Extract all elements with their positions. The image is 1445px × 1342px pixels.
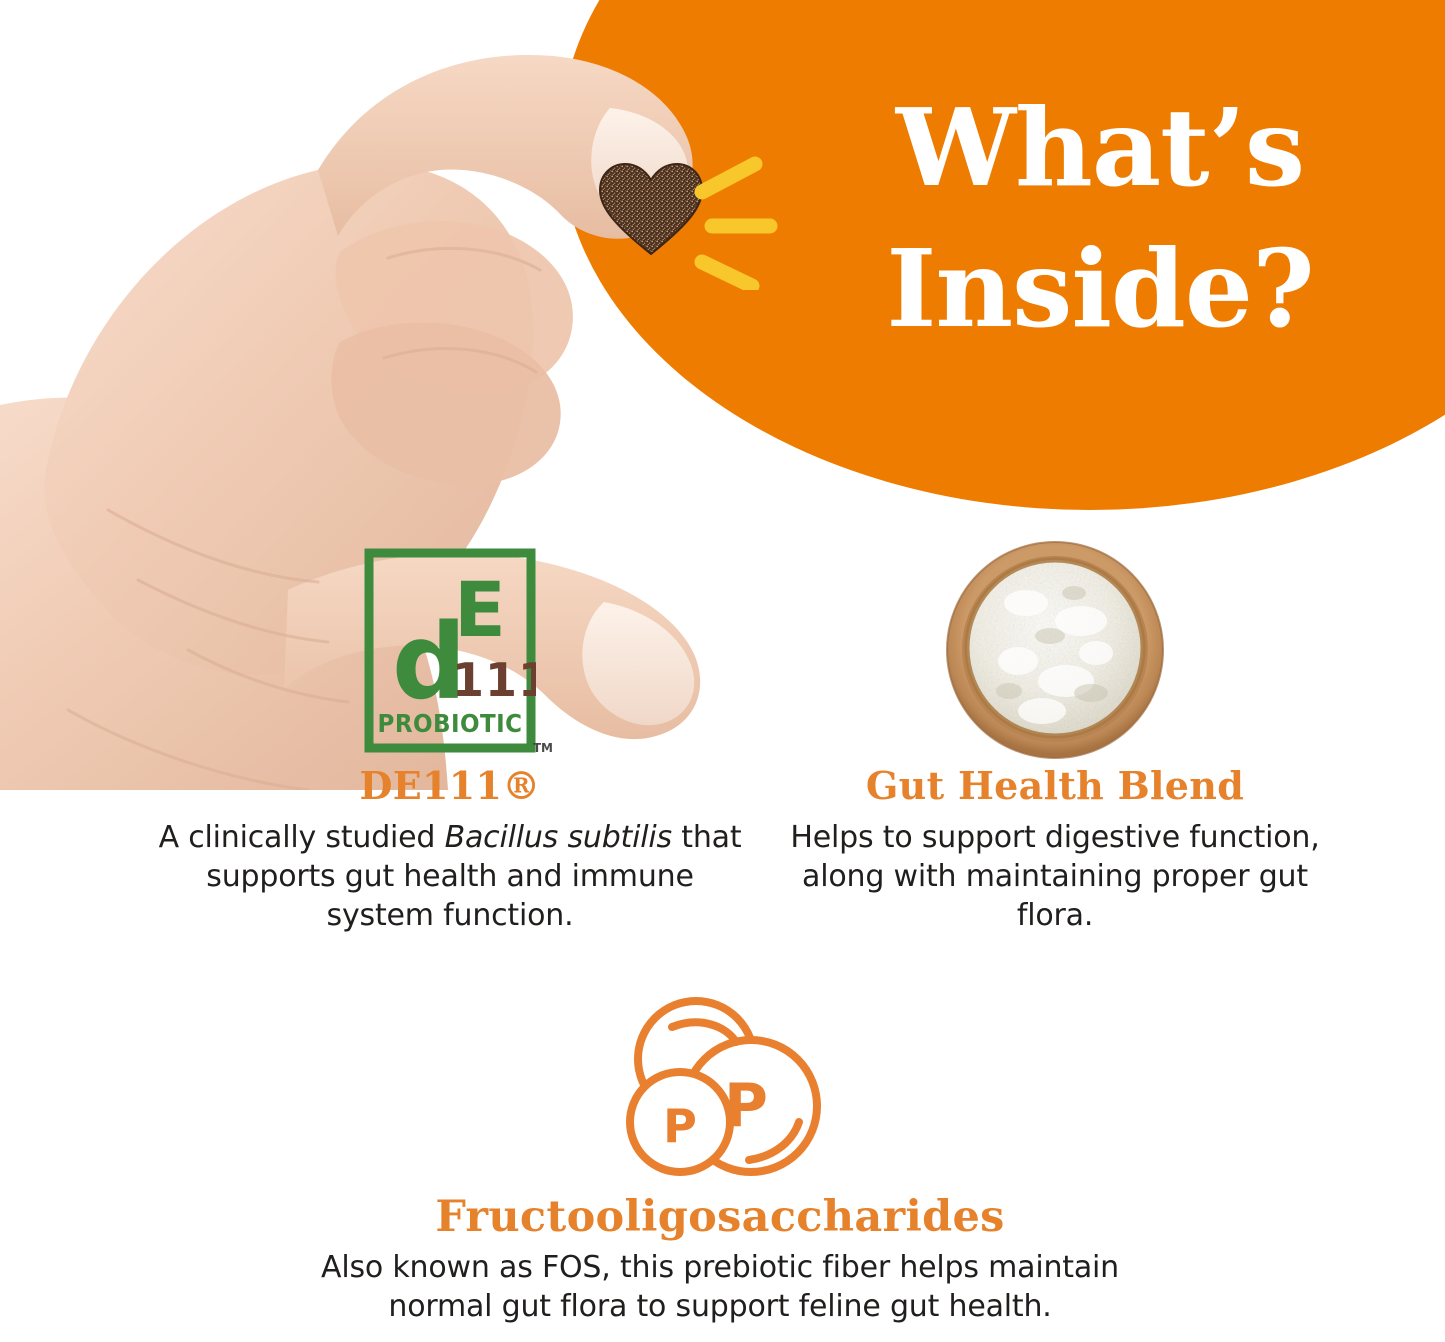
de111-logo-svg: E d 111 PROBIOTIC — [364, 548, 536, 753]
whats-inside-infographic: What’s Inside? — [0, 0, 1445, 1342]
de111-logo-trademark: TM — [533, 741, 553, 755]
feature-de111-title: DE111® — [150, 766, 750, 806]
feature-de111-body: A clinically studied Bacillus subtilis t… — [150, 818, 750, 935]
feature-fructooligosaccharides: P P Fructooligosaccharides Also known as… — [320, 985, 1120, 1326]
page-title: What’s Inside? — [800, 78, 1400, 360]
feature-gut-visual — [770, 534, 1340, 766]
de111-probiotic-logo: E d 111 PROBIOTIC TM — [364, 548, 536, 753]
feature-gut-health-blend: Gut Health Blend Helps to support digest… — [770, 534, 1340, 935]
page-title-line-2: Inside? — [800, 219, 1400, 360]
sparkle-lines-icon — [690, 150, 800, 290]
de111-logo-word: PROBIOTIC — [378, 709, 523, 738]
prebiotic-letter-p-large: P — [724, 1071, 768, 1141]
powder-bowl-image — [946, 541, 1164, 759]
feature-de111-body-prefix: A clinically studied — [159, 820, 445, 855]
feature-de111: E d 111 PROBIOTIC TM DE111® A clinically… — [150, 534, 750, 935]
de111-logo-number: 111 — [452, 653, 536, 707]
feature-de111-body-italic: Bacillus subtilis — [445, 820, 672, 855]
feature-fos-visual: P P — [320, 985, 1120, 1195]
prebiotic-letter-p-small: P — [663, 1099, 697, 1153]
feature-de111-visual: E d 111 PROBIOTIC TM — [150, 534, 750, 766]
feature-gut-body: Helps to support digestive function, alo… — [770, 818, 1340, 935]
feature-fos-title: Fructooligosaccharides — [320, 1195, 1120, 1240]
feature-gut-title: Gut Health Blend — [770, 766, 1340, 806]
feature-fos-body: Also known as FOS, this prebiotic fiber … — [320, 1248, 1120, 1326]
prebiotic-circles-icon: P P — [618, 994, 823, 1186]
page-title-line-1: What’s — [800, 78, 1400, 219]
